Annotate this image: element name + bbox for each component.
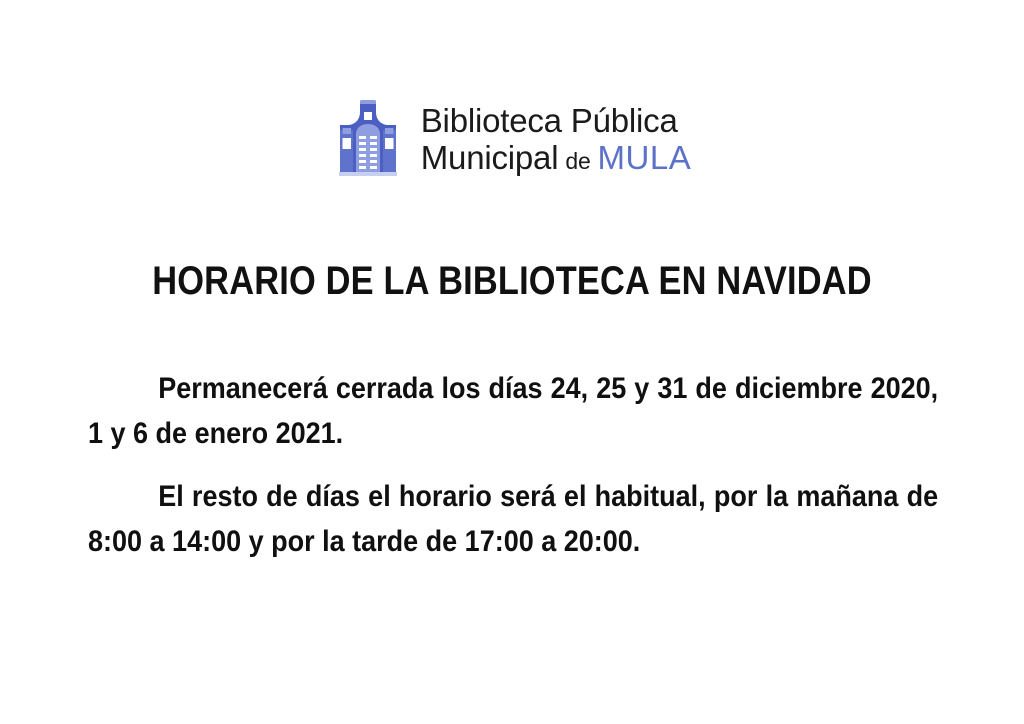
page-title: HORARIO DE LA BIBLIOTECA EN NAVIDAD	[72, 259, 953, 304]
logo-word-de: de	[565, 149, 590, 175]
logo-word-mula: MULA	[598, 140, 692, 177]
logo-line-municipal-de-mula: Municipal de MULA	[421, 140, 691, 177]
paragraph-closed-days: Permanecerá cerrada los días 24, 25 y 31…	[88, 366, 938, 456]
logo-wordmark: Biblioteca Pública Municipal de MULA	[421, 103, 691, 177]
logo-word-municipal: Municipal	[421, 140, 559, 177]
library-logo: Biblioteca Pública Municipal de MULA	[0, 100, 1024, 180]
logo-line-biblioteca-publica: Biblioteca Pública	[421, 103, 691, 140]
notice-body: Permanecerá cerrada los días 24, 25 y 31…	[88, 366, 939, 564]
paragraph-regular-hours: El resto de días el horario será el habi…	[88, 474, 938, 564]
library-building-icon	[333, 100, 403, 180]
logo-inner: Biblioteca Pública Municipal de MULA	[333, 100, 691, 180]
notice-page: Biblioteca Pública Municipal de MULA HOR…	[0, 0, 1024, 724]
